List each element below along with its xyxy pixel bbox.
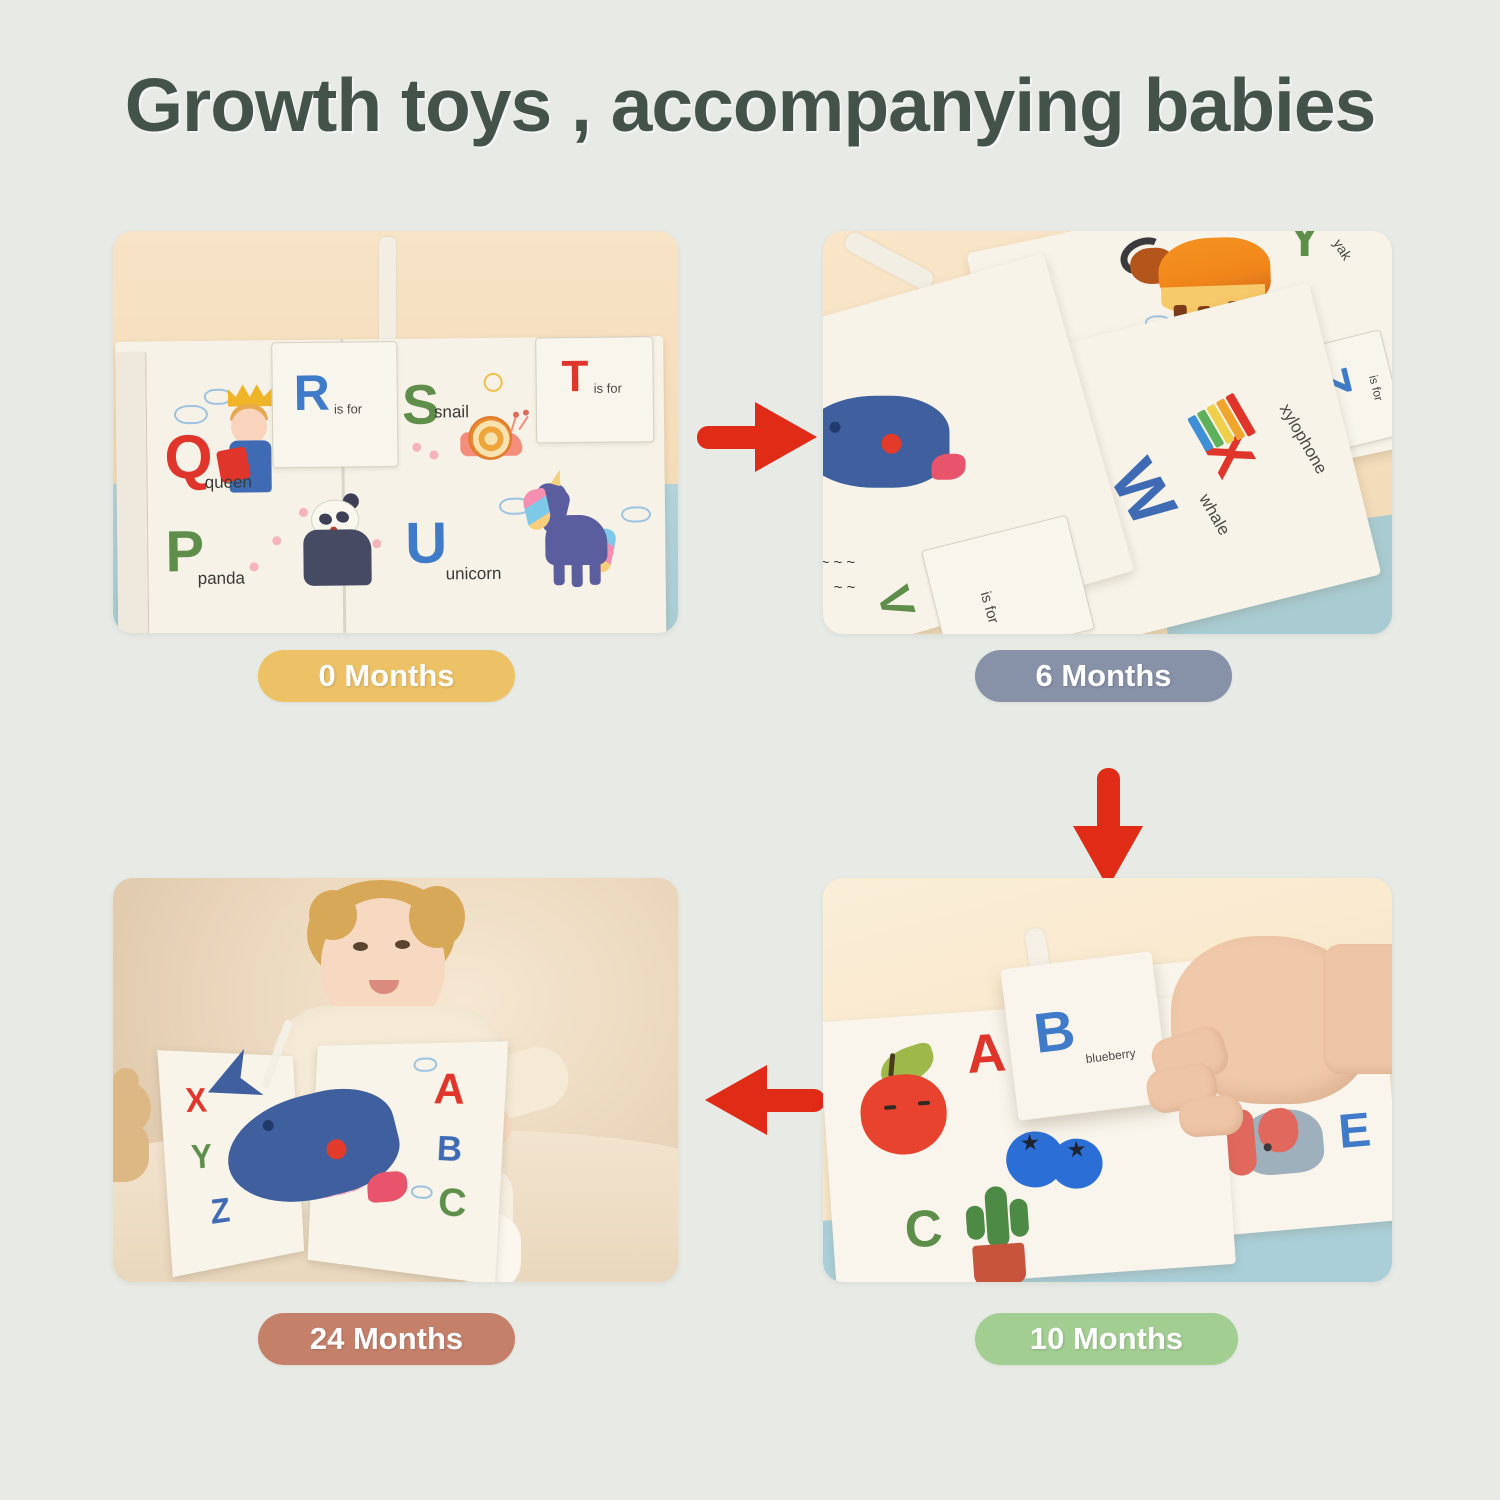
letter-A: A (433, 1067, 466, 1111)
snail-shell (468, 416, 512, 460)
hand-wrist (1323, 944, 1392, 1074)
cloud-doodle (204, 389, 232, 405)
word-snail: snail (434, 402, 469, 422)
word-unicorn: unicorn (446, 564, 502, 585)
letter-B: B (1031, 1001, 1078, 1062)
queen-head (231, 408, 267, 444)
photo-6-months-scene: Y yak Z is for W w (823, 231, 1392, 634)
arrow-left-icon (697, 1063, 825, 1137)
letter-T: T (561, 355, 588, 399)
unicorn-leg (589, 557, 600, 585)
letter-X: X (184, 1083, 207, 1117)
snail-antenna (510, 416, 517, 432)
word-yak: yak (1330, 236, 1355, 263)
photo-card-0-months[interactable]: Q queen R is for S snail T is for P (113, 231, 678, 633)
whale-fin (931, 454, 965, 480)
label-is-for-R: is for (334, 401, 362, 416)
cactus-stem (984, 1186, 1010, 1249)
unicorn-horn (551, 468, 565, 486)
squiggle-doodle: ~ ~ (834, 579, 856, 596)
stage-label-0-months: 0 Months (258, 650, 515, 702)
snail-antenna-tip (523, 410, 529, 416)
hand-finger (1178, 1094, 1245, 1138)
letter-C: C (903, 1202, 944, 1256)
book-hanging-strap (379, 237, 396, 345)
photo-card-6-months[interactable]: Y yak Z is for W w (823, 231, 1392, 634)
word-panda: panda (198, 569, 245, 589)
arrow-down-icon (1071, 768, 1145, 890)
letter-E: E (1337, 1106, 1373, 1157)
baby-eye (395, 940, 410, 949)
flap-pocket-B[interactable]: B blueberry (1000, 951, 1169, 1120)
apple-eye (884, 1105, 896, 1110)
cactus-arm (1009, 1198, 1030, 1237)
stage-label-24-months: 24 Months (258, 1313, 515, 1365)
crown-icon (228, 382, 272, 406)
word-xylophone: xylophone (1275, 401, 1331, 478)
panda-body (303, 529, 372, 586)
cactus-pot (972, 1242, 1027, 1282)
flower-doodle (250, 562, 259, 571)
squiggle-doodle: ~ ~ ~ (823, 554, 855, 571)
baby-hair-curl (309, 890, 357, 940)
page-title: Growth toys , accompanying babies (0, 62, 1500, 148)
letter-Z: Z (210, 1193, 232, 1230)
snail-antenna (518, 416, 528, 430)
flower-doodle (299, 508, 308, 517)
letter-U: U (405, 514, 447, 572)
whale-eye (829, 422, 840, 433)
cloth-book-spread: Q queen R is for S snail T is for P (115, 336, 667, 633)
baby-eye (353, 942, 368, 951)
sun-doodle (484, 373, 503, 392)
photo-10-months-scene: E A (823, 878, 1392, 1282)
letter-Y: Y (190, 1139, 213, 1174)
snail-antenna-tip (513, 412, 519, 418)
flower-doodle (372, 539, 381, 548)
letter-C: C (437, 1183, 467, 1225)
letter-B: B (436, 1131, 463, 1167)
letter-Y: Y (1287, 231, 1323, 265)
cloud-doodle (174, 405, 208, 424)
apple-eye (918, 1101, 930, 1106)
flower-doodle (272, 536, 281, 545)
cloud-doodle (411, 1185, 433, 1200)
photo-24-months-scene: X Y Z A B C (113, 878, 678, 1282)
unicorn-leg (553, 557, 564, 585)
word-whale: whale (1194, 491, 1234, 539)
apple-body (858, 1072, 949, 1158)
flower-doodle (412, 443, 421, 452)
whale-spot (881, 434, 901, 454)
arrow-head (705, 1065, 767, 1135)
book-left-edge (115, 352, 149, 633)
arrow-head (755, 402, 817, 472)
baby-hair-curl (409, 886, 465, 948)
unicorn-leg (572, 559, 583, 587)
arrow-right-icon (697, 400, 825, 474)
photo-card-10-months[interactable]: E A (823, 878, 1392, 1282)
stage-label-10-months: 10 Months (975, 1313, 1238, 1365)
photo-0-months-scene: Q queen R is for S snail T is for P (113, 231, 678, 633)
label-is-for-T: is for (594, 381, 622, 396)
cactus-arm (965, 1205, 985, 1240)
cloud-doodle (621, 506, 651, 522)
cloud-doodle (413, 1057, 438, 1071)
flower-doodle (429, 451, 438, 460)
letter-A: A (965, 1025, 1008, 1082)
word-blueberry: blueberry (1085, 1046, 1136, 1066)
word-queen: queen (205, 472, 252, 492)
photo-card-24-months[interactable]: X Y Z A B C (113, 878, 678, 1282)
letter-R: R (293, 368, 330, 418)
stage-label-6-months: 6 Months (975, 650, 1232, 702)
